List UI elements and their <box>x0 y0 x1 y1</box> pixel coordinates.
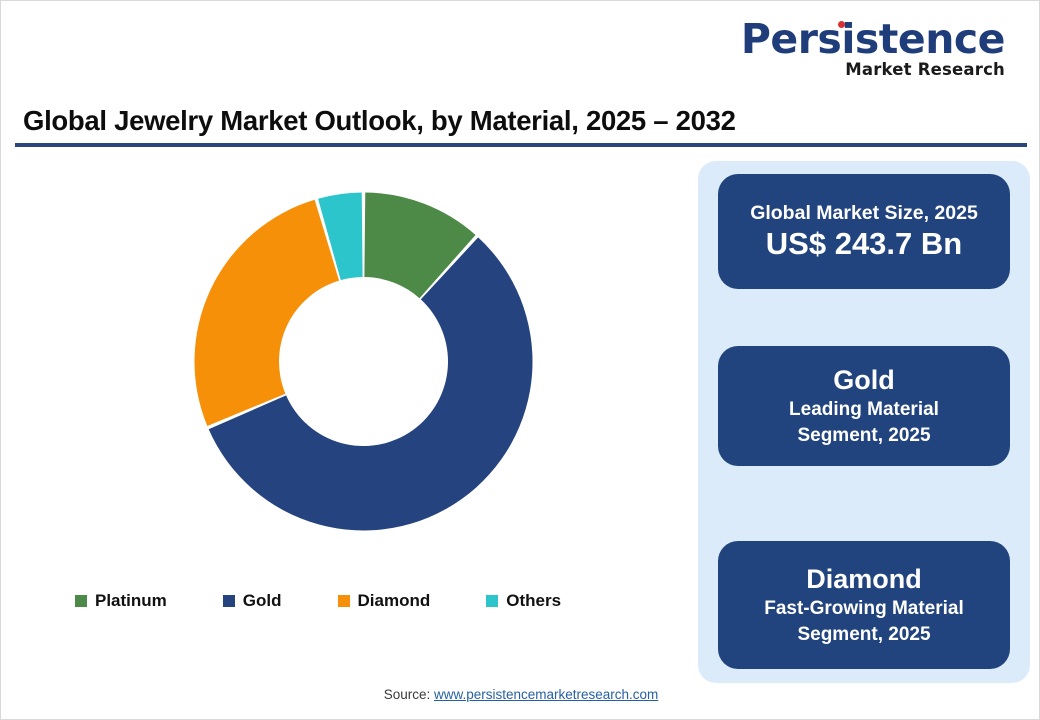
leading-segment-sub-line2: Segment, 2025 <box>797 424 930 448</box>
leading-segment-sub-line1: Leading Material <box>789 398 939 422</box>
fast-growing-segment-name: Diamond <box>806 563 922 595</box>
donut-slice-group <box>195 193 533 531</box>
chart-legend: Platinum Gold Diamond Others <box>75 591 675 611</box>
logo-wordmark-text: Persistence <box>741 15 1005 63</box>
donut-chart-svg <box>191 189 536 534</box>
donut-chart <box>191 189 536 534</box>
source-footer: Source: www.persistencemarketresearch.co… <box>1 687 1040 702</box>
infographic-page: Persistence Market Research Global Jewel… <box>0 0 1040 720</box>
legend-item-diamond[interactable]: Diamond <box>338 591 431 611</box>
source-prefix: Source: <box>384 687 434 702</box>
donut-chart-area: Platinum Gold Diamond Others <box>15 151 687 671</box>
page-title: Global Jewelry Market Outlook, by Materi… <box>23 105 736 137</box>
legend-label-others: Others <box>506 591 561 611</box>
leading-segment-card: Gold Leading Material Segment, 2025 <box>718 346 1010 466</box>
donut-slice-diamond[interactable] <box>195 200 340 426</box>
leading-segment-name: Gold <box>833 364 895 396</box>
legend-swatch-others <box>486 595 498 607</box>
legend-label-platinum: Platinum <box>95 591 167 611</box>
market-size-caption: Global Market Size, 2025 <box>750 201 978 225</box>
highlights-panel: Global Market Size, 2025 US$ 243.7 Bn Go… <box>698 161 1030 683</box>
fast-growing-segment-card: Diamond Fast-Growing Material Segment, 2… <box>718 541 1010 669</box>
legend-item-others[interactable]: Others <box>486 591 561 611</box>
title-divider <box>15 143 1027 147</box>
source-link[interactable]: www.persistencemarketresearch.com <box>434 687 658 702</box>
legend-item-platinum[interactable]: Platinum <box>75 591 167 611</box>
logo-wordmark: Persistence <box>741 19 1005 60</box>
legend-label-diamond: Diamond <box>358 591 431 611</box>
logo-i-dot-icon <box>838 21 845 28</box>
logo-subtitle: Market Research <box>741 62 1005 79</box>
legend-swatch-platinum <box>75 595 87 607</box>
legend-label-gold: Gold <box>243 591 282 611</box>
legend-swatch-gold <box>223 595 235 607</box>
market-size-value: US$ 243.7 Bn <box>766 225 962 262</box>
company-logo: Persistence Market Research <box>741 19 1005 79</box>
legend-item-gold[interactable]: Gold <box>223 591 282 611</box>
fast-growing-segment-sub-line2: Segment, 2025 <box>797 623 930 647</box>
market-size-card: Global Market Size, 2025 US$ 243.7 Bn <box>718 174 1010 289</box>
fast-growing-segment-sub-line1: Fast-Growing Material <box>764 597 964 621</box>
legend-swatch-diamond <box>338 595 350 607</box>
